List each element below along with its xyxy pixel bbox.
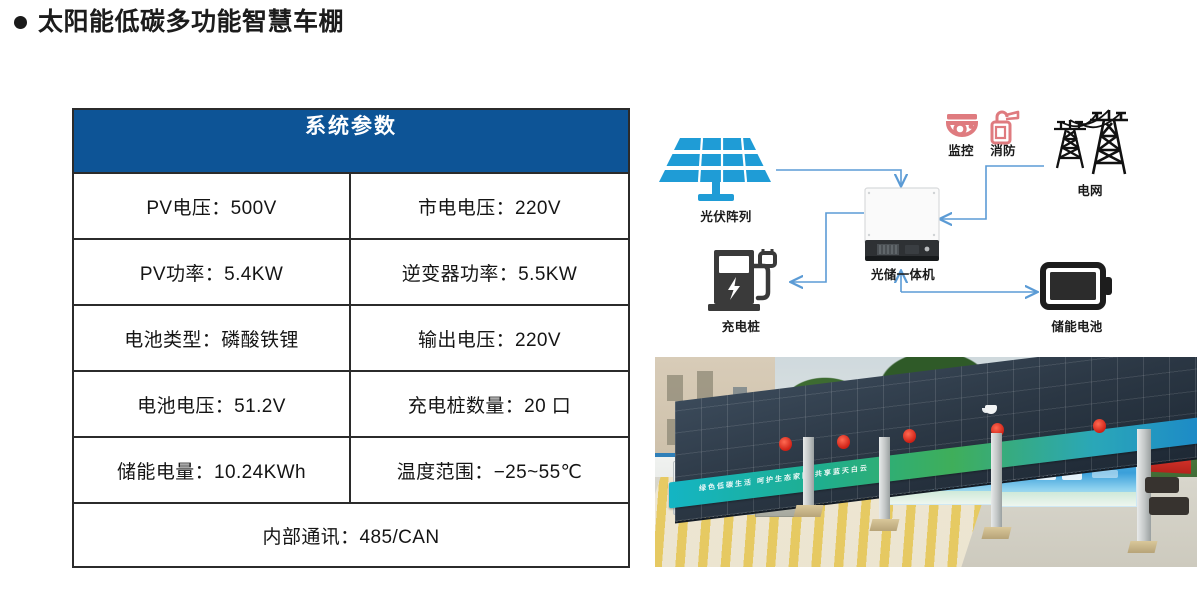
- bullet-icon: [14, 16, 27, 29]
- page-title: 太阳能低碳多功能智慧车棚: [14, 10, 344, 35]
- table-cell-mains-voltage: 市电电压：220V: [351, 174, 628, 238]
- table-cell-pv-power: PV功率：5.4KW: [74, 240, 351, 304]
- node-label-inverter: 光储一体机: [855, 264, 951, 283]
- photo-canopy-post: [879, 437, 890, 523]
- photo-lantern: [1093, 419, 1106, 433]
- table-cell-internal-comm: 内部通讯：485/CAN: [74, 504, 628, 566]
- node-label-pv-array: 光伏阵列: [686, 206, 766, 225]
- node-label-grid: 电网: [1064, 180, 1116, 199]
- system-architecture-diagram: 光伏阵列 监控 消防 电网 光储一体机 充电桩 储能电池: [652, 100, 1200, 350]
- system-parameters-table: 系统参数 PV电压：500V 市电电压：220V PV功率：5.4KW 逆变器功…: [72, 108, 630, 568]
- table-row: 电池类型：磷酸铁锂 输出电压：220V: [74, 306, 628, 372]
- photo-scooter: [1149, 497, 1189, 515]
- table-header: 系统参数: [74, 110, 628, 174]
- flow-inverter-to-charger: [792, 213, 864, 282]
- table-cell-battery-voltage: 电池电压：51.2V: [74, 372, 351, 436]
- cctv-dome-camera-icon: [947, 114, 977, 135]
- hybrid-inverter-icon: [865, 188, 939, 261]
- diagram-canvas: [652, 100, 1200, 350]
- table-row: 内部通讯：485/CAN: [74, 504, 628, 566]
- node-label-charger: 充电桩: [714, 316, 768, 335]
- table-row: PV电压：500V 市电电压：220V: [74, 174, 628, 240]
- ev-charging-pile-icon: [708, 249, 775, 311]
- photo-lantern: [779, 437, 792, 451]
- table-row: PV功率：5.4KW 逆变器功率：5.5KW: [74, 240, 628, 306]
- node-label-monitor: 监控: [940, 140, 982, 159]
- flow-grid-to-inverter: [941, 166, 1044, 219]
- node-label-battery: 储能电池: [1044, 316, 1110, 335]
- fire-extinguisher-icon: [992, 112, 1018, 143]
- table-row: 电池电压：51.2V 充电桩数量：20 口: [74, 372, 628, 438]
- page-title-text: 太阳能低碳多功能智慧车棚: [38, 10, 344, 35]
- table-cell-battery-type: 电池类型：磷酸铁锂: [74, 306, 351, 370]
- table-cell-charger-count: 充电桩数量：20 口: [351, 372, 628, 436]
- table-cell-storage-capacity: 储能电量：10.24KWh: [74, 438, 351, 502]
- table-cell-output-voltage: 输出电压：220V: [351, 306, 628, 370]
- battery-icon: [1040, 262, 1112, 310]
- photo-canopy-post: [991, 433, 1002, 531]
- table-cell-pv-voltage: PV电压：500V: [74, 174, 351, 238]
- photo-canopy-post: [803, 437, 814, 509]
- solar-panel-icon: [659, 138, 771, 201]
- table-cell-inverter-power: 逆变器功率：5.5KW: [351, 240, 628, 304]
- node-label-fire: 消防: [982, 140, 1024, 159]
- photo-lantern: [837, 435, 850, 449]
- table-cell-temp-range: 温度范围：−25~55℃: [351, 438, 628, 502]
- carport-photo: 绿色低碳生活 呵护生态家园 共享蓝天白云: [655, 357, 1197, 567]
- flow-pv-to-inverter: [776, 170, 901, 185]
- photo-lantern: [903, 429, 916, 443]
- photo-scooter: [1145, 477, 1179, 493]
- power-tower-icon: [1054, 110, 1128, 174]
- table-row: 储能电量：10.24KWh 温度范围：−25~55℃: [74, 438, 628, 504]
